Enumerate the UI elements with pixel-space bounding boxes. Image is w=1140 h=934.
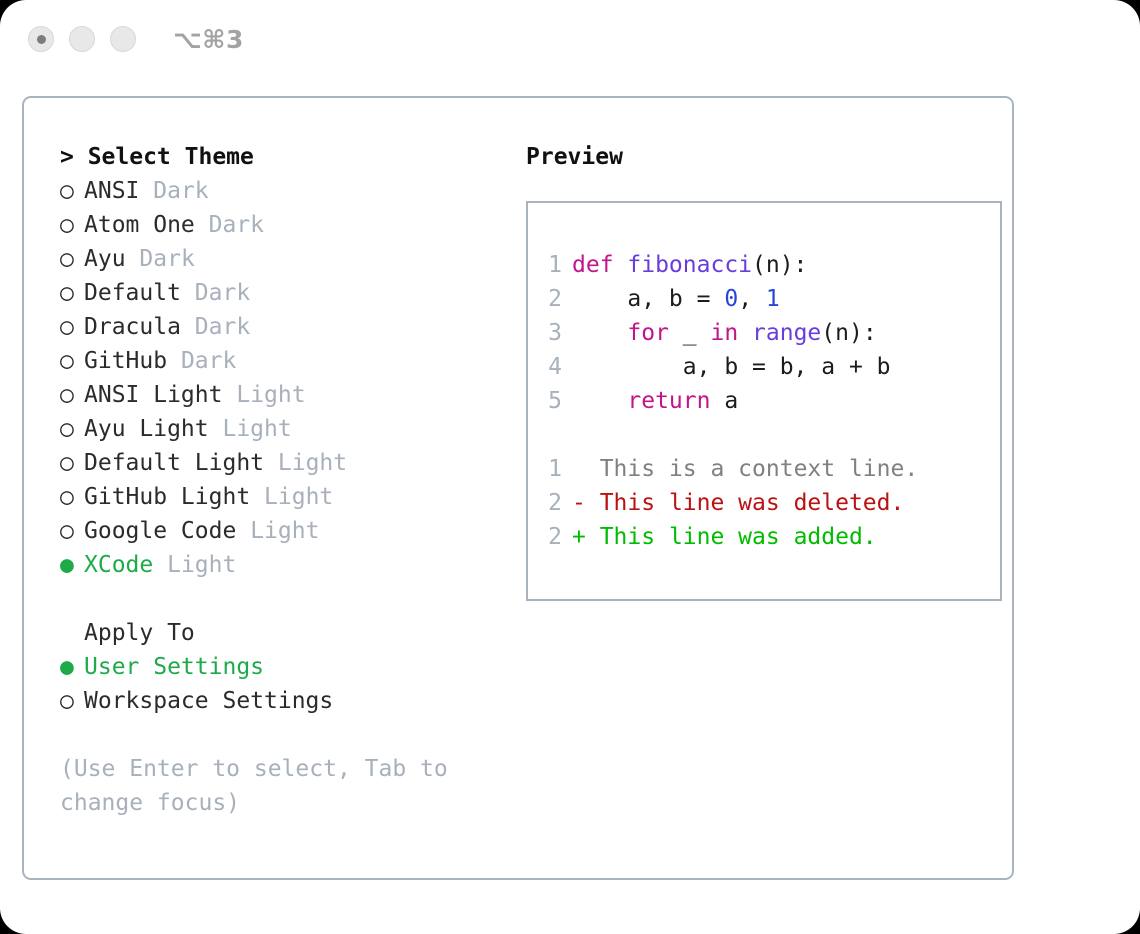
radio-unselected-icon: ○	[60, 310, 84, 344]
theme-option-list: ○ANSI Dark○Atom One Dark○Ayu Dark○Defaul…	[60, 174, 510, 582]
apply-to-heading: Apply To	[60, 616, 510, 650]
code-token-plain	[738, 320, 752, 346]
diff-line-number: 2	[540, 486, 562, 520]
diff-marker-icon: +	[572, 524, 600, 550]
close-dot-inner-icon	[37, 35, 46, 44]
theme-option-label: ANSI	[84, 178, 139, 204]
code-token-fn: fibonacci	[627, 252, 752, 278]
main-panel: > Select Theme ○ANSI Dark○Atom One Dark○…	[22, 96, 1014, 880]
theme-option-label: Google Code	[84, 518, 236, 544]
theme-option-ansi-light[interactable]: ○ANSI Light Light	[60, 378, 510, 412]
theme-option-label: Ayu Light	[84, 416, 209, 442]
radio-unselected-icon: ○	[60, 378, 84, 412]
theme-option-google-code[interactable]: ○Google Code Light	[60, 514, 510, 548]
theme-option-kind-badge: Dark	[209, 212, 264, 238]
preview-heading: Preview	[526, 140, 1012, 174]
code-token-plain: a, b =	[572, 286, 724, 312]
theme-option-default[interactable]: ○Default Dark	[60, 276, 510, 310]
theme-option-kind-badge: Light	[236, 382, 305, 408]
diff-marker-icon	[572, 456, 600, 482]
code-token-num: 0	[724, 286, 738, 312]
theme-option-kind-badge: Dark	[181, 348, 236, 374]
apply-to-option-label: Workspace Settings	[84, 688, 333, 714]
theme-option-label: ANSI Light	[84, 382, 222, 408]
code-token-num: 1	[766, 286, 780, 312]
theme-option-kind-badge: Dark	[195, 314, 250, 340]
section-spacer	[60, 582, 510, 616]
radio-unselected-icon: ○	[60, 208, 84, 242]
diff-line-text: This line was added.	[600, 524, 877, 550]
theme-option-label: Default Light	[84, 450, 264, 476]
radio-unselected-icon: ○	[60, 412, 84, 446]
diff-line-text: This is a context line.	[600, 456, 919, 482]
keyboard-shortcut-label: ⌥⌘3	[173, 25, 244, 54]
traffic-light-group	[28, 26, 136, 52]
code-line-number: 5	[540, 384, 562, 418]
code-line-number: 1	[540, 248, 562, 282]
maximize-button-icon[interactable]	[110, 26, 136, 52]
code-line: 5 return a	[540, 384, 1000, 418]
theme-option-ansi[interactable]: ○ANSI Dark	[60, 174, 510, 208]
theme-option-kind-badge: Dark	[139, 246, 194, 272]
code-token-plain: a	[710, 388, 738, 414]
apply-to-option-list: ●User Settings○Workspace Settings	[60, 650, 510, 718]
code-sample: 1def fibonacci(n):2 a, b = 0, 13 for _ i…	[540, 248, 1000, 418]
theme-option-kind-badge: Light	[250, 518, 319, 544]
code-line: 1def fibonacci(n):	[540, 248, 1000, 282]
theme-option-label: Ayu	[84, 246, 126, 272]
theme-option-kind-badge: Light	[278, 450, 347, 476]
title-bar: ⌥⌘3	[0, 0, 1140, 78]
code-line-number: 4	[540, 350, 562, 384]
code-token-plain: a, b = b, a + b	[572, 354, 891, 380]
radio-selected-icon: ●	[60, 650, 84, 684]
code-line-number: 3	[540, 316, 562, 350]
apply-to-option-label: User Settings	[84, 654, 264, 680]
diff-marker-icon: -	[572, 490, 600, 516]
theme-option-default-light[interactable]: ○Default Light Light	[60, 446, 510, 480]
diff-line-number: 1	[540, 452, 562, 486]
code-token-kw: in	[710, 320, 738, 346]
code-token-kw: for	[627, 320, 669, 346]
theme-option-github[interactable]: ○GitHub Dark	[60, 344, 510, 378]
select-theme-heading: > Select Theme	[60, 140, 510, 174]
radio-unselected-icon: ○	[60, 276, 84, 310]
preview-column: Preview 1def fibonacci(n):2 a, b = 0, 13…	[510, 140, 1012, 878]
diff-line-number: 2	[540, 520, 562, 554]
minimize-button-icon[interactable]	[69, 26, 95, 52]
code-line: 2 a, b = 0, 1	[540, 282, 1000, 316]
diff-line-add: 2+ This line was added.	[540, 520, 1000, 554]
code-token-plain: ,	[738, 286, 766, 312]
theme-option-ayu[interactable]: ○Ayu Dark	[60, 242, 510, 276]
theme-option-atom-one[interactable]: ○Atom One Dark	[60, 208, 510, 242]
radio-unselected-icon: ○	[60, 344, 84, 378]
code-token-plain	[572, 388, 627, 414]
radio-unselected-icon: ○	[60, 174, 84, 208]
diff-line-text: This line was deleted.	[600, 490, 905, 516]
radio-unselected-icon: ○	[60, 514, 84, 548]
theme-option-label: GitHub	[84, 348, 167, 374]
code-token-plain: (n):	[752, 252, 807, 278]
theme-option-github-light[interactable]: ○GitHub Light Light	[60, 480, 510, 514]
code-token-kw: def	[572, 252, 627, 278]
theme-option-kind-badge: Light	[264, 484, 333, 510]
close-button-icon[interactable]	[28, 26, 54, 52]
apply-to-option-workspace-settings[interactable]: ○Workspace Settings	[60, 684, 510, 718]
preview-box: 1def fibonacci(n):2 a, b = 0, 13 for _ i…	[526, 201, 1002, 601]
code-token-plain: _	[669, 320, 711, 346]
keyboard-hint-text: (Use Enter to select, Tab to change focu…	[60, 752, 480, 820]
code-line: 4 a, b = b, a + b	[540, 350, 1000, 384]
theme-option-kind-badge: Dark	[195, 280, 250, 306]
theme-option-xcode[interactable]: ●XCode Light	[60, 548, 510, 582]
theme-option-label: Dracula	[84, 314, 181, 340]
theme-option-ayu-light[interactable]: ○Ayu Light Light	[60, 412, 510, 446]
code-line-number: 2	[540, 282, 562, 316]
theme-option-label: Atom One	[84, 212, 195, 238]
radio-selected-icon: ●	[60, 548, 84, 582]
code-token-plain: (n):	[821, 320, 876, 346]
diff-line-ctx: 1 This is a context line.	[540, 452, 1000, 486]
radio-unselected-icon: ○	[60, 684, 84, 718]
theme-option-label: GitHub Light	[84, 484, 250, 510]
theme-option-kind-badge: Light	[167, 552, 236, 578]
code-diff-spacer	[540, 418, 1000, 452]
theme-option-label: XCode	[84, 552, 153, 578]
code-token-fn: range	[752, 320, 821, 346]
theme-option-dracula[interactable]: ○Dracula Dark	[60, 310, 510, 344]
code-line: 3 for _ in range(n):	[540, 316, 1000, 350]
theme-option-label: Default	[84, 280, 181, 306]
radio-unselected-icon: ○	[60, 446, 84, 480]
code-token-plain	[572, 320, 627, 346]
apply-to-option-user-settings[interactable]: ●User Settings	[60, 650, 510, 684]
theme-option-kind-badge: Dark	[153, 178, 208, 204]
code-token-kw: return	[627, 388, 710, 414]
app-window: ⌥⌘3 > Select Theme ○ANSI Dark○Atom One D…	[0, 0, 1140, 934]
diff-sample: 1 This is a context line.2- This line wa…	[540, 452, 1000, 554]
diff-line-del: 2- This line was deleted.	[540, 486, 1000, 520]
radio-unselected-icon: ○	[60, 242, 84, 276]
radio-unselected-icon: ○	[60, 480, 84, 514]
theme-picker-column: > Select Theme ○ANSI Dark○Atom One Dark○…	[40, 140, 510, 878]
theme-option-kind-badge: Light	[222, 416, 291, 442]
